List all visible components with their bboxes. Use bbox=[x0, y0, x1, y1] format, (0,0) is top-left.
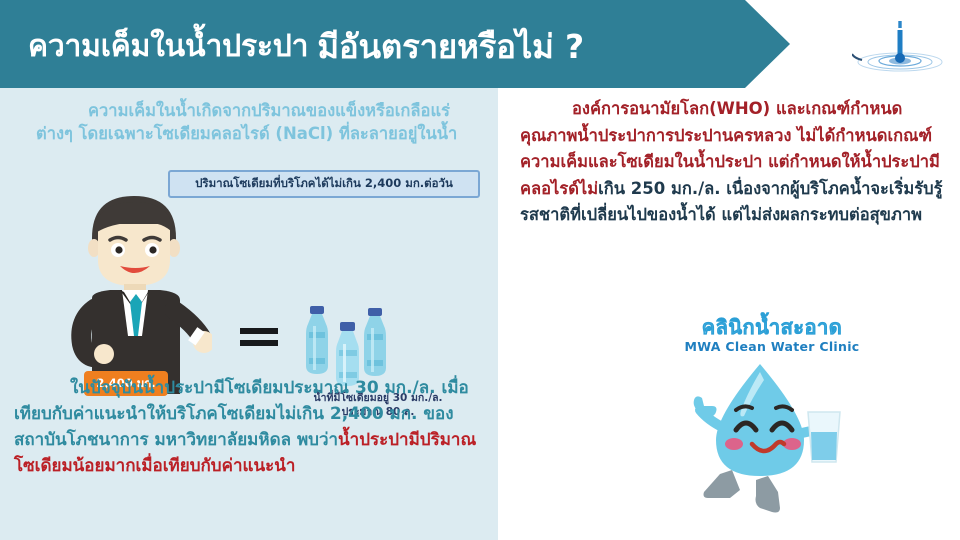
left-panel-paragraph: ในปัจจุบันน้ำประปามีโซเดียมประมาณ 30 มก.… bbox=[14, 375, 488, 479]
logo-english-text: MWA Clean Water Clinic bbox=[676, 339, 868, 355]
equals-sign-icon bbox=[240, 328, 280, 358]
water-droplet-splash-icon bbox=[852, 18, 948, 80]
left-panel: ความเค็มในน้ำเกิดจากปริมาณของแข็งหรือเกล… bbox=[0, 88, 498, 540]
businessman-illustration bbox=[62, 186, 212, 394]
logo-thai-text: คลินิกน้ำสะอาด bbox=[676, 316, 868, 338]
right-panel-paragraph: องค์การอนามัยโลก(WHO) และเกณฑ์กำหนดคุณภา… bbox=[520, 96, 948, 229]
infographic-slide: ความเค็มในน้ำประปา มีอันตรายหรือไม่ ? คว… bbox=[0, 0, 960, 540]
page-title-part2: มีอันตรายหรือไม่ ? bbox=[317, 25, 584, 69]
page-title-part1: ความเค็มในน้ำประปา bbox=[28, 25, 308, 69]
sodium-limit-callout: ปริมาณโซเดียมที่บริโภคได้ไม่เกิน 2,400 ม… bbox=[168, 170, 480, 198]
left-panel-heading: ความเค็มในน้ำเกิดจากปริมาณของแข็งหรือเกล… bbox=[36, 99, 476, 145]
page-title: ความเค็มในน้ำประปา มีอันตรายหรือไม่ ? bbox=[28, 22, 728, 72]
right-paragraph-part2: เกิน 250 มก./ล. bbox=[598, 179, 726, 198]
mwa-clean-water-clinic-logo: คลินิกน้ำสะอาด MWA Clean Water Clinic bbox=[676, 316, 868, 362]
water-drop-mascot-illustration bbox=[672, 358, 848, 518]
